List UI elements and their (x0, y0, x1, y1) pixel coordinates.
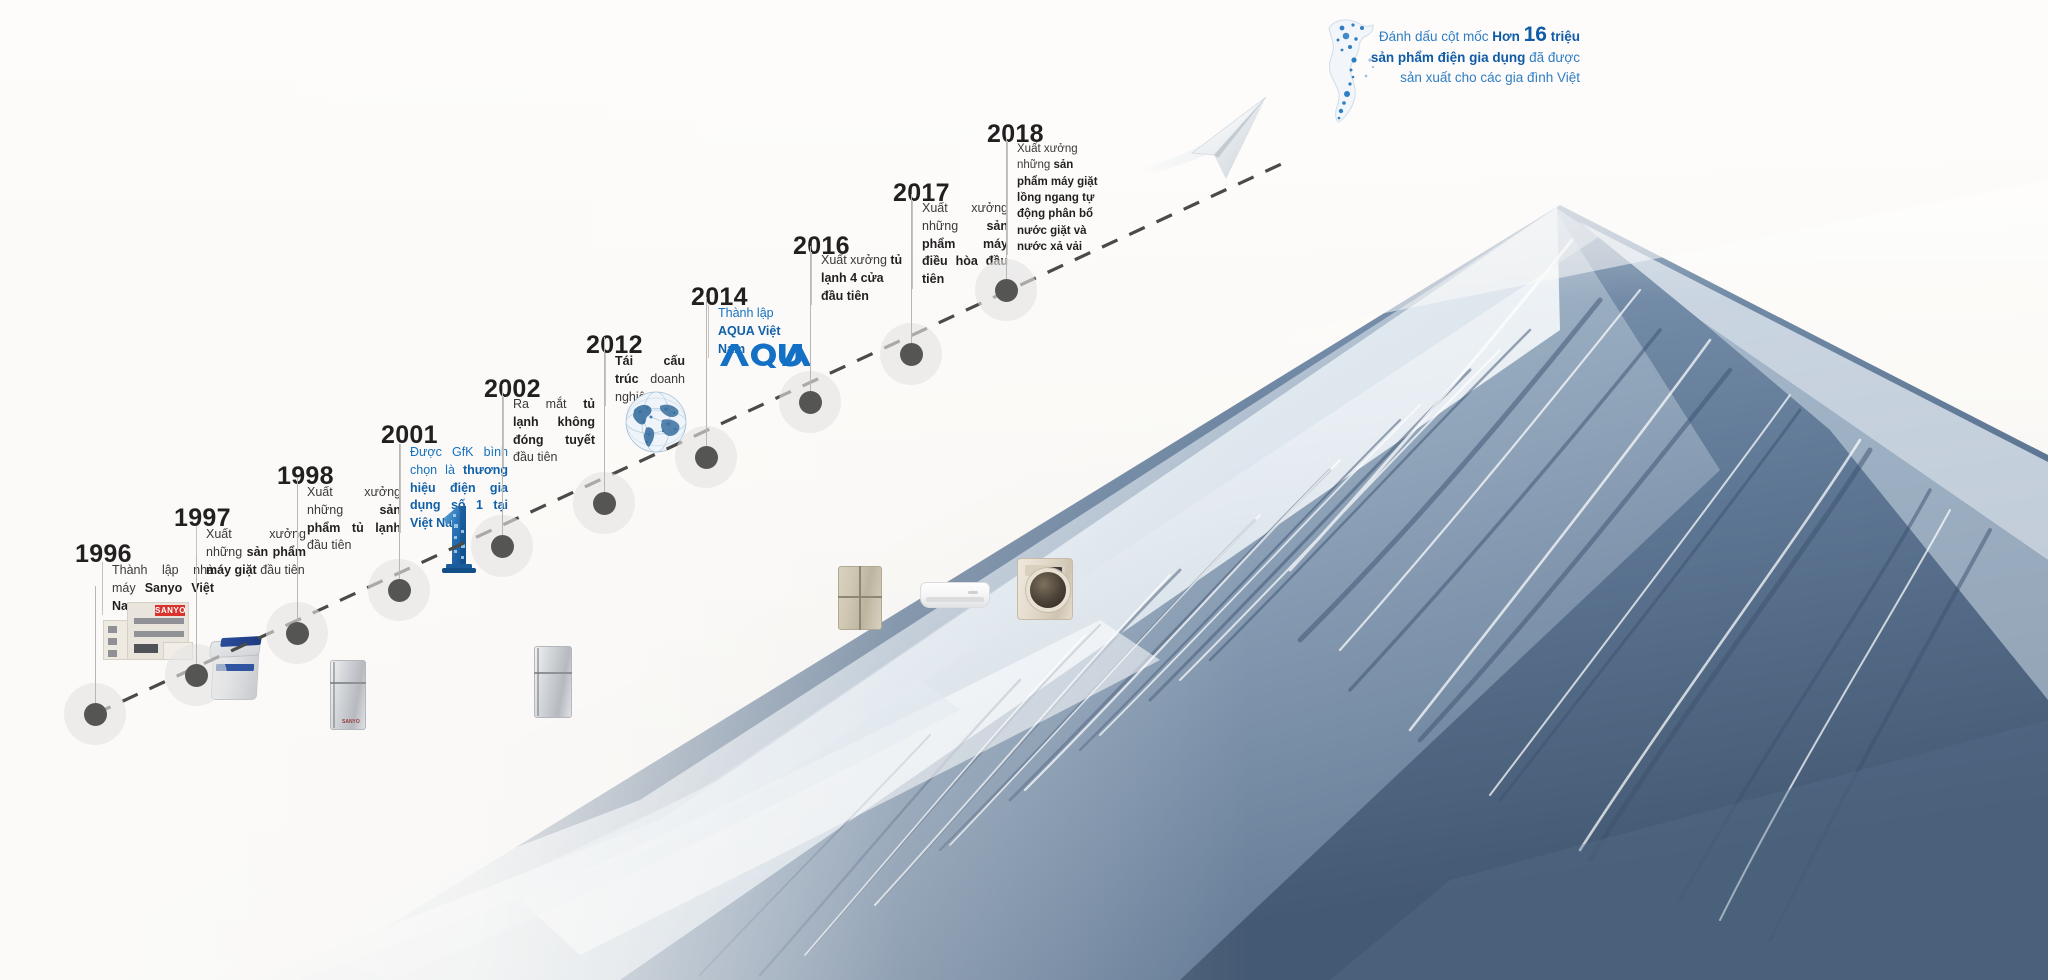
node-dot (799, 391, 822, 414)
paper-plane-icon (1140, 95, 1270, 190)
milestone-card-2018: Xuất xưởng những sản phẩm máy giặt lồng … (1007, 141, 1105, 255)
node-stem (196, 555, 197, 675)
node-stem (911, 194, 912, 354)
node-stem (604, 337, 605, 503)
callout-line1-plain: Đánh dấu cột mốc (1379, 29, 1492, 44)
infographic-canvas: 1996 Thành lập nhà máy Sanyo Việt Nam SA… (0, 0, 2048, 980)
node-dot (593, 492, 616, 515)
callout-line1-bold: Hơn (1492, 29, 1520, 44)
node-dot (491, 535, 514, 558)
text-plain-b: đầu tiên (513, 450, 557, 464)
milestone-card-2002: Ra mắt tủ lạnh không đóng tuyết đầu tiên (503, 396, 595, 467)
milestone-text-1998: Xuất xưởng những sản phẩm tủ lạnh đầu ti… (307, 484, 401, 555)
text-plain-a: Ra mắt (513, 397, 583, 411)
node-dot (695, 446, 718, 469)
node-dot (900, 343, 923, 366)
milestone-text-2016: Xuất xưởng tủ lạnh 4 cửa đầu tiên (821, 252, 905, 305)
callout-line3-plain: cho các gia đình Việt (1455, 70, 1580, 85)
milestone-text-2002: Ra mắt tủ lạnh không đóng tuyết đầu tiên (513, 396, 595, 467)
callout-big-number: 16 (1524, 23, 1547, 46)
milestone-card-1998: Xuất xưởng những sản phẩm tủ lạnh đầu ti… (297, 484, 401, 555)
aqua-logo (718, 340, 814, 375)
node-dot (185, 664, 208, 687)
node-stem (502, 384, 503, 546)
front-load-washer-image (1017, 558, 1073, 620)
node-dot (995, 279, 1018, 302)
milestone-text-1997: Xuất xưởng những sản phẩm máy giặt đầu t… (206, 526, 306, 579)
four-door-fridge-image (838, 566, 882, 630)
node-stem (706, 297, 707, 457)
air-conditioner-image (920, 582, 990, 608)
milestone-text-2018: Xuất xưởng những sản phẩm máy giặt lồng … (1017, 141, 1105, 255)
milestone-card-2016: Xuất xưởng tủ lạnh 4 cửa đầu tiên (811, 252, 905, 305)
text-plain-a: Xuất xưởng (821, 253, 890, 267)
two-door-fridge-image: SANYO (330, 660, 366, 730)
milestone-card-1997: Xuất xưởng những sản phẩm máy giặt đầu t… (196, 526, 306, 579)
text-plain-a: Thành lập (718, 306, 774, 320)
node-stem (297, 477, 298, 633)
node-stem (810, 246, 811, 402)
text-plain-b: đầu tiên (307, 538, 351, 552)
node-stem (95, 586, 96, 714)
callout-text: Đánh dấu cột mốc Hơn 16 triệu sản phẩm đ… (1368, 24, 1580, 89)
node-dot (286, 622, 309, 645)
node-dot (388, 579, 411, 602)
node-dot (84, 703, 107, 726)
node-stem (399, 444, 400, 590)
node-stem (1006, 138, 1007, 290)
no-frost-fridge-image (534, 646, 572, 718)
text-bold: sản phẩm máy giặt lồng ngang tự động phâ… (1017, 159, 1098, 253)
